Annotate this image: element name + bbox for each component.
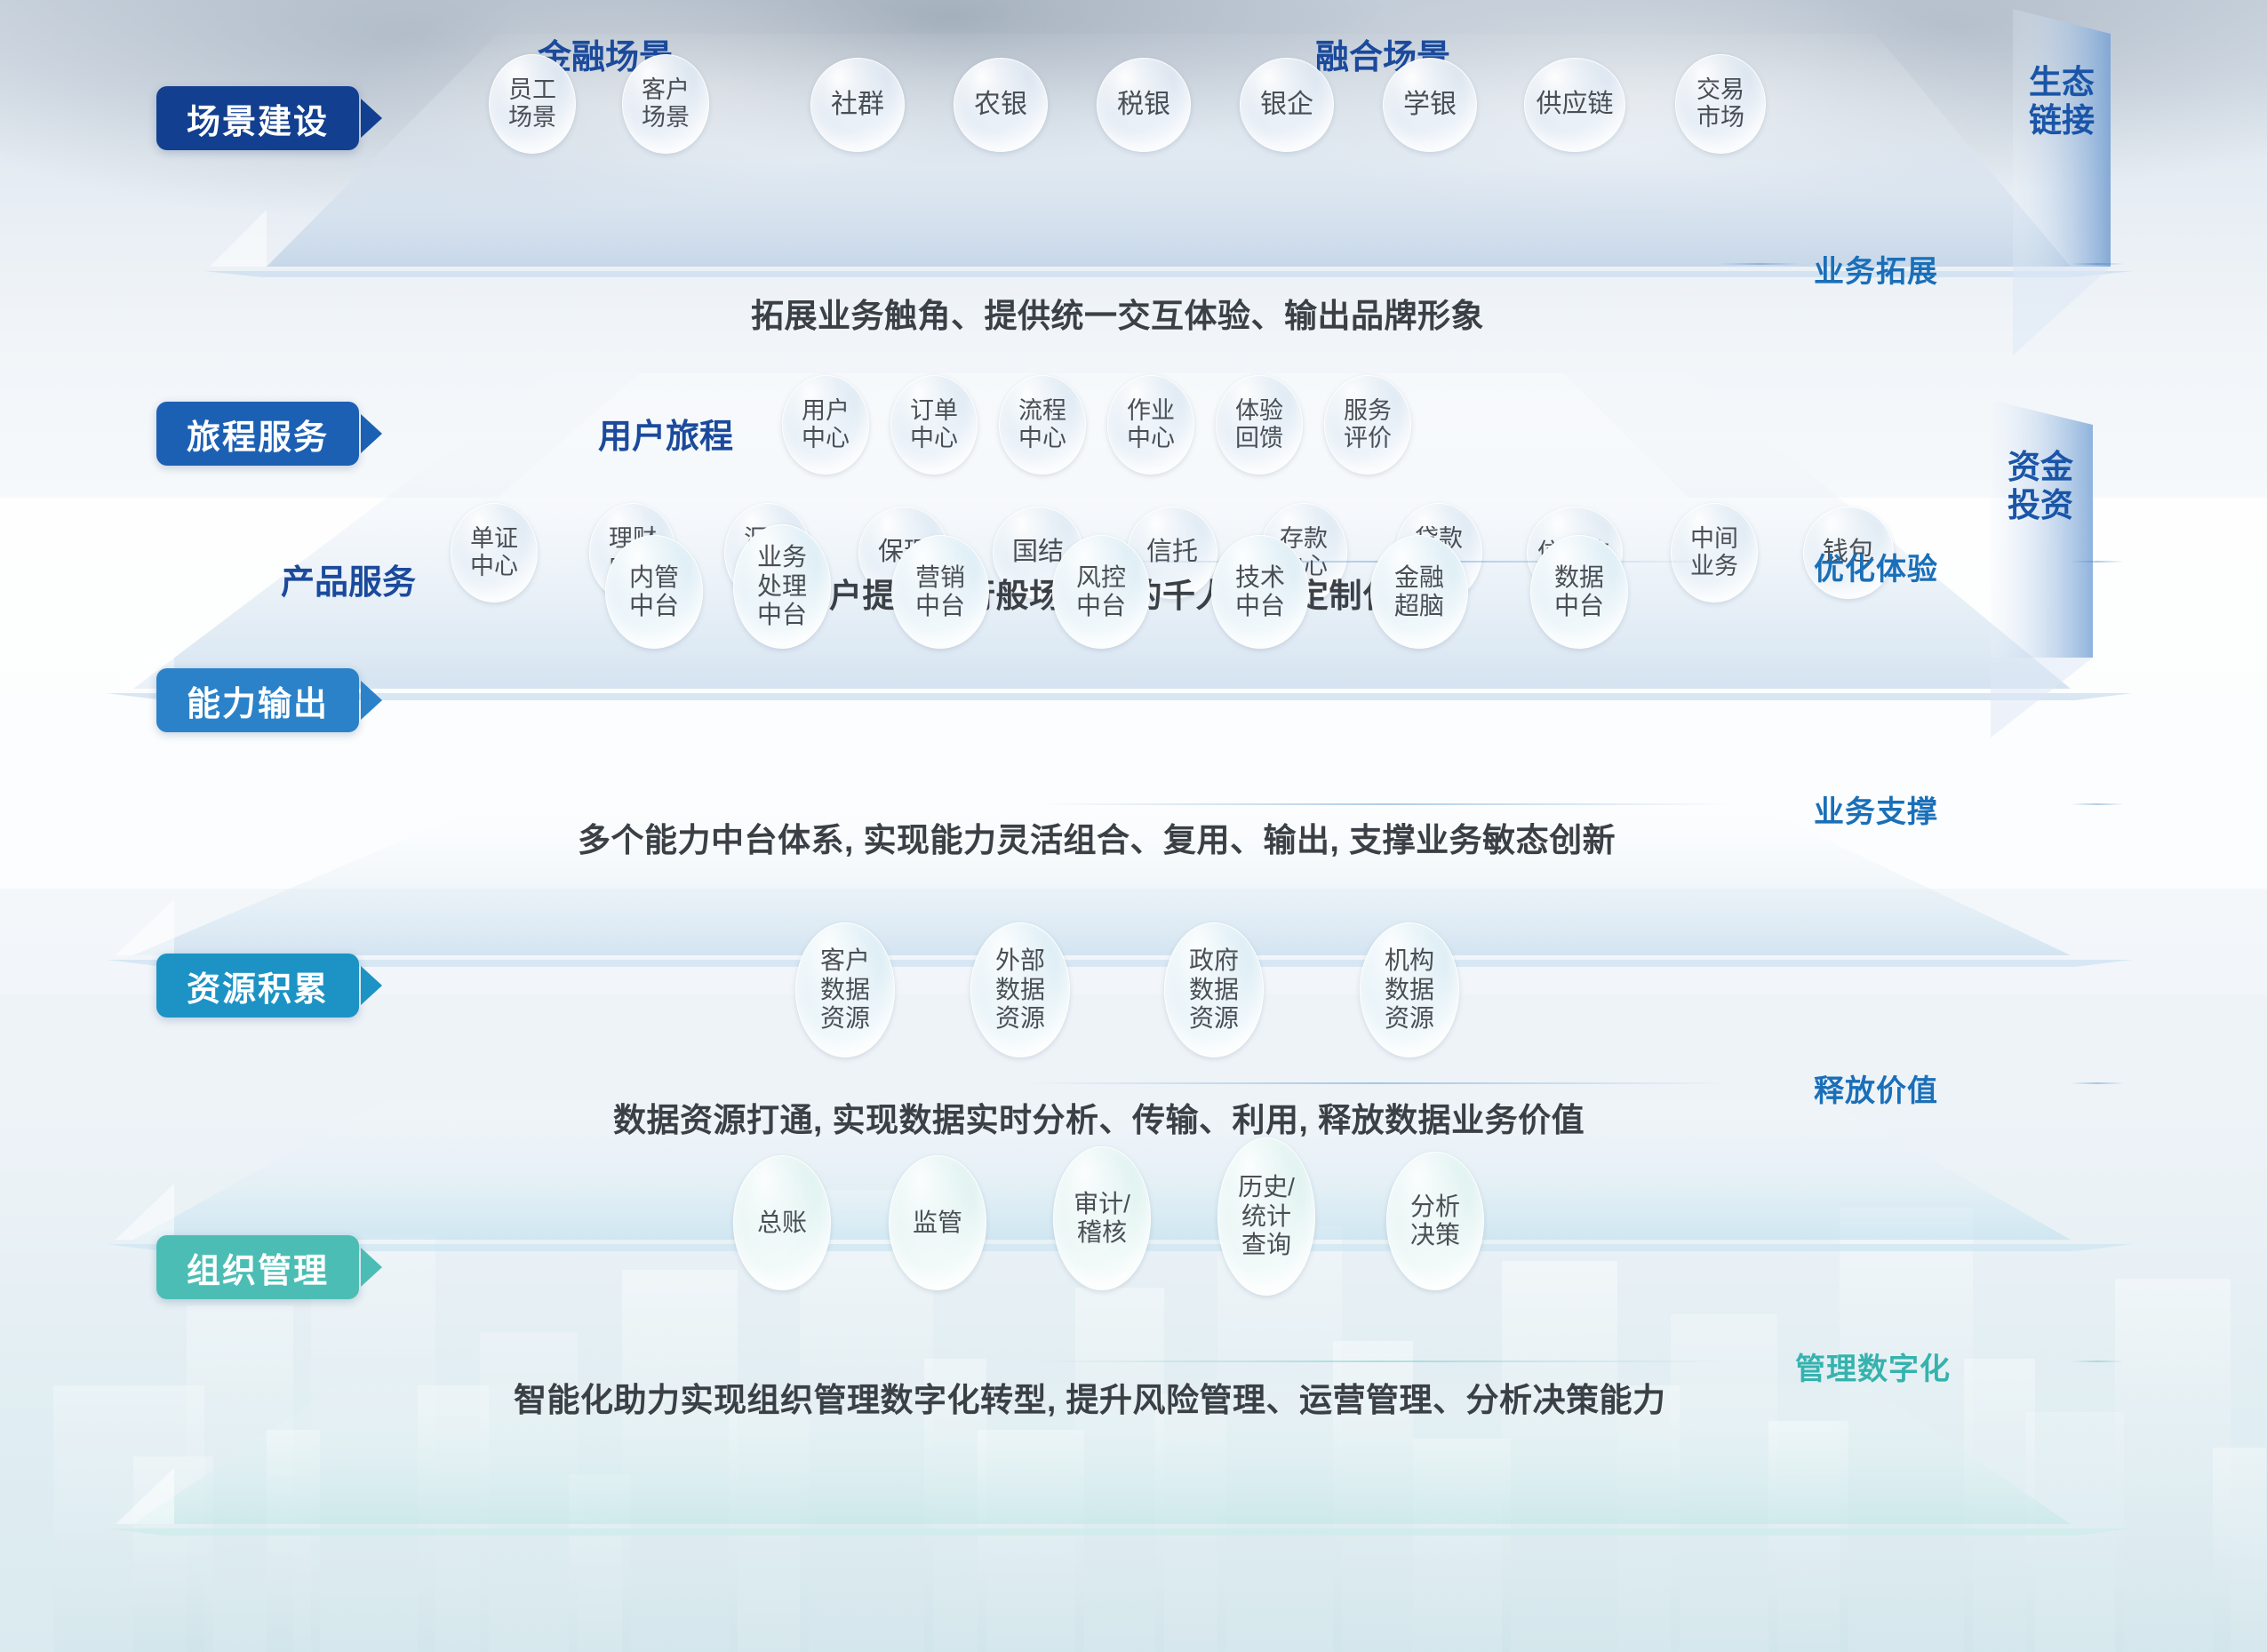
node-bubble[interactable]: 社群 [810, 58, 905, 152]
node-bubble-label: 客户 场景 [642, 76, 690, 132]
node-bubble-label: 流程 中心 [1018, 397, 1066, 453]
node-bubble-label: 服务 评价 [1344, 397, 1392, 453]
tier-chip-org[interactable]: 组织管理 [156, 1235, 359, 1299]
tier-caption-scene: 拓展业务触角、提供统一交互体验、输出品牌形象 [751, 289, 1484, 337]
group-heading-journey-1: 产品服务 [281, 555, 416, 603]
node-bubble[interactable]: 员工 场景 [489, 54, 576, 154]
tier-chip-label: 场景建设 [187, 94, 329, 143]
tier-caption-org: 智能化助力实现组织管理数字化转型, 提升风险管理、运营管理、分析决策能力 [514, 1373, 1666, 1421]
chip-arrow-icon [361, 1248, 382, 1287]
node-bubble-label: 客户 数据 资源 [820, 946, 870, 1033]
node-bubble-label: 业务 处理 中台 [757, 543, 807, 629]
outcome-rule [1040, 803, 1733, 805]
outcome-rule [2071, 1361, 2124, 1362]
side-tab-label: 资金 投资 [1994, 449, 2087, 524]
node-bubble[interactable]: 分析 决策 [1386, 1152, 1484, 1290]
node-bubble-label: 交易 市场 [1696, 76, 1744, 132]
node-bubble-label: 农银 [974, 90, 1027, 121]
tier-chip-label: 能力输出 [187, 676, 329, 725]
tier-chip-label: 资源积累 [187, 962, 329, 1010]
tier-chip-label: 组织管理 [187, 1243, 329, 1292]
node-bubble[interactable]: 供应链 [1524, 58, 1625, 152]
node-bubble-label: 社群 [831, 90, 884, 121]
outcome-label-journey: 优化体验 [1814, 545, 1938, 588]
node-bubble[interactable]: 税银 [1097, 58, 1191, 152]
outcome-rule [1022, 1082, 1733, 1084]
outcome-rule [2071, 803, 2124, 805]
node-bubble-label: 体验 回馈 [1235, 397, 1283, 453]
node-bubble[interactable]: 客户 场景 [622, 54, 709, 154]
outcome-label-org: 管理数字化 [1795, 1345, 1951, 1388]
outcome-label-resource: 释放价值 [1814, 1066, 1938, 1110]
node-bubble[interactable]: 机构 数据 资源 [1360, 922, 1459, 1057]
node-bubble[interactable]: 订单 中心 [890, 375, 978, 475]
chip-arrow-icon [361, 966, 382, 1005]
node-bubble[interactable]: 数据 中台 [1530, 535, 1628, 649]
node-bubble-label: 税银 [1117, 90, 1170, 121]
node-bubble[interactable]: 学银 [1383, 58, 1477, 152]
node-bubble-label: 员工 场景 [508, 76, 556, 132]
outcome-rule [2071, 1082, 2124, 1084]
tier-chip-resource[interactable]: 资源积累 [156, 954, 359, 1018]
chip-arrow-icon [361, 414, 382, 453]
node-bubble-label: 技术 中台 [1235, 563, 1285, 621]
node-bubble-label: 金融 超脑 [1394, 563, 1444, 621]
node-bubble-label: 用户 中心 [802, 397, 850, 453]
node-bubble[interactable]: 服务 评价 [1324, 375, 1411, 475]
node-bubble-label: 学银 [1403, 90, 1457, 121]
node-bubble-label: 分析 决策 [1410, 1193, 1460, 1250]
node-bubble-label: 数据 中台 [1554, 563, 1604, 621]
node-bubble[interactable]: 用户 中心 [782, 375, 869, 475]
outcome-label-capability: 业务支撑 [1814, 787, 1938, 831]
node-bubble[interactable]: 客户 数据 资源 [795, 922, 895, 1057]
node-bubble[interactable]: 监管 [889, 1155, 986, 1290]
side-tab-label: 生态 链接 [2016, 64, 2108, 140]
outcome-rule [2071, 263, 2124, 265]
node-bubble[interactable]: 历史/ 统计 查询 [1217, 1137, 1315, 1296]
node-bubble[interactable]: 外部 数据 资源 [970, 922, 1070, 1057]
node-bubble[interactable]: 总账 [733, 1155, 831, 1290]
tier-caption-capability: 多个能力中台体系, 实现能力灵活组合、复用、输出, 支撑业务敏态创新 [578, 813, 1616, 861]
node-bubble-label: 营销 中台 [915, 563, 965, 621]
node-bubble[interactable]: 政府 数据 资源 [1164, 922, 1264, 1057]
node-bubble-label: 机构 数据 资源 [1385, 946, 1434, 1033]
node-bubble[interactable]: 作业 中心 [1107, 375, 1194, 475]
node-bubble[interactable]: 风控 中台 [1052, 535, 1150, 649]
node-bubble-label: 供应链 [1536, 90, 1613, 120]
node-bubble-label: 银企 [1260, 90, 1313, 121]
outcome-rule [1022, 1361, 1733, 1362]
node-bubble[interactable]: 农银 [954, 58, 1048, 152]
node-bubble[interactable]: 交易 市场 [1675, 54, 1766, 154]
node-bubble-label: 风控 中台 [1076, 563, 1126, 621]
node-bubble-label: 信托 [1146, 538, 1198, 568]
node-bubble-label: 单证 中心 [470, 525, 518, 581]
tier-chip-label: 旅程服务 [187, 410, 329, 459]
node-bubble[interactable]: 业务 处理 中台 [733, 524, 831, 649]
node-bubble[interactable]: 单证 中心 [451, 503, 538, 603]
node-bubble-label: 审计/ 稽核 [1074, 1190, 1130, 1248]
node-bubble-label: 政府 数据 资源 [1189, 946, 1239, 1033]
tier-chip-capability[interactable]: 能力输出 [156, 668, 359, 732]
node-bubble[interactable]: 营销 中台 [891, 535, 989, 649]
tier-chip-journey[interactable]: 旅程服务 [156, 402, 359, 466]
node-bubble-label: 监管 [913, 1209, 962, 1237]
node-bubble[interactable]: 审计/ 稽核 [1053, 1146, 1151, 1290]
node-bubble-label: 作业 中心 [1127, 397, 1175, 453]
node-bubble-label: 总账 [757, 1209, 807, 1237]
node-bubble-label: 中间 业务 [1690, 525, 1738, 581]
node-bubble[interactable]: 中间 业务 [1671, 503, 1758, 603]
outcome-label-scene: 业务拓展 [1814, 247, 1938, 291]
node-bubble[interactable]: 内管 中台 [605, 535, 703, 649]
group-heading-journey-0: 用户旅程 [598, 409, 733, 458]
node-bubble-label: 历史/ 统计 查询 [1238, 1173, 1295, 1259]
chip-arrow-icon [361, 681, 382, 720]
node-bubble[interactable]: 体验 回馈 [1216, 375, 1303, 475]
tier-chip-scene[interactable]: 场景建设 [156, 86, 359, 150]
chip-arrow-icon [361, 99, 382, 138]
node-bubble[interactable]: 流程 中心 [999, 375, 1086, 475]
node-bubble-label: 外部 数据 资源 [995, 946, 1045, 1033]
node-bubble[interactable]: 技术 中台 [1211, 535, 1309, 649]
node-bubble[interactable]: 银企 [1240, 58, 1334, 152]
node-bubble-label: 内管 中台 [629, 563, 679, 621]
outcome-rule [1720, 263, 1800, 265]
outcome-rule [2071, 561, 2124, 563]
node-bubble-label: 订单 中心 [910, 397, 958, 453]
tier-caption-resource: 数据资源打通, 实现数据实时分析、传输、利用, 释放数据业务价值 [613, 1093, 1585, 1141]
node-bubble-label: 国结 [1012, 538, 1064, 568]
node-bubble[interactable]: 金融 超脑 [1370, 535, 1468, 649]
